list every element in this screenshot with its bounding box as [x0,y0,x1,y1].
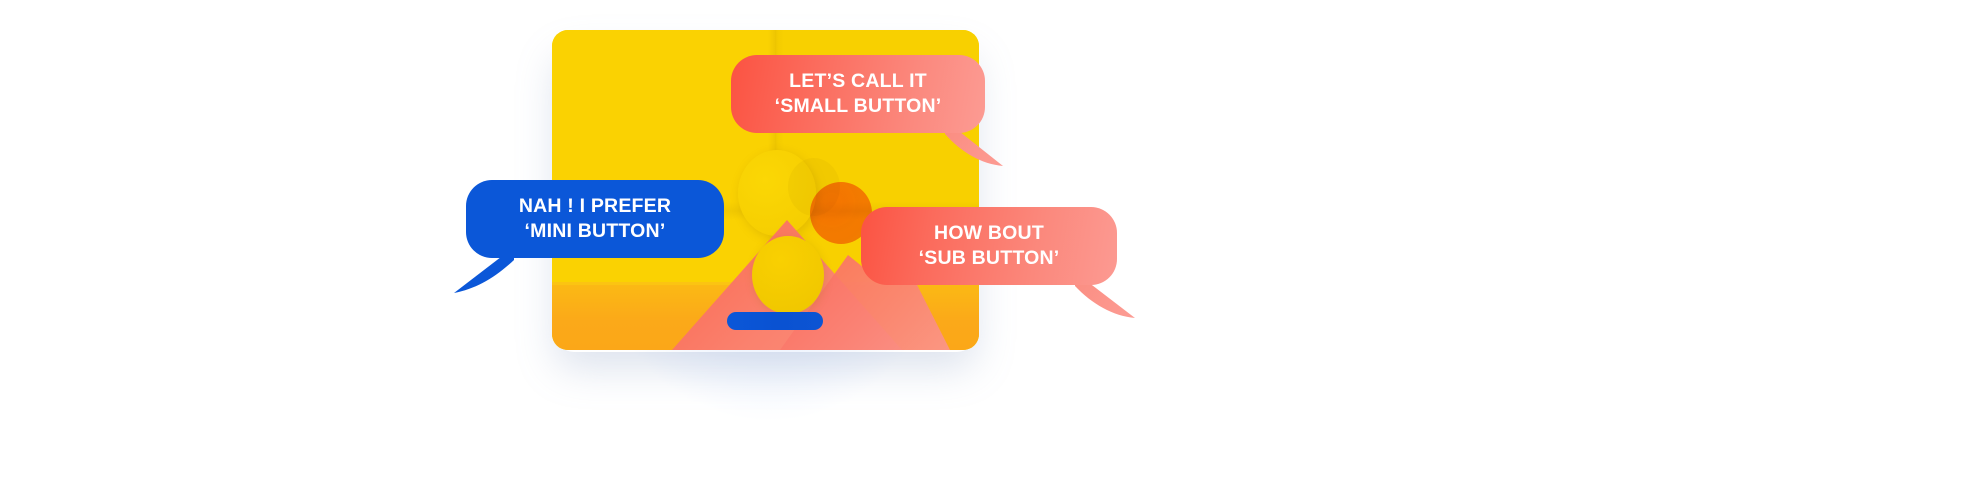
speech-bubble-sub-button-line-1: HOW BOUT [934,221,1044,246]
speech-bubble-sub-button-line-2: ‘SUB BUTTON’ [919,246,1060,271]
speech-bubble-small-button[interactable]: LET’S CALL IT ‘SMALL BUTTON’ [731,55,985,133]
blue-pill-button[interactable] [727,312,823,330]
speech-bubble-mini-button-line-2: ‘MINI BUTTON’ [525,219,666,244]
illustration-scene: LET’S CALL IT ‘SMALL BUTTON’ NAH ! I PRE… [0,0,1975,483]
speech-bubble-sub-button[interactable]: HOW BOUT ‘SUB BUTTON’ [861,207,1117,285]
puzzle-knob-lower [752,236,824,314]
speech-bubble-mini-button-line-1: NAH ! I PREFER [519,194,671,219]
speech-bubble-mini-button[interactable]: NAH ! I PREFER ‘MINI BUTTON’ [466,180,724,258]
speech-bubble-small-button-line-2: ‘SMALL BUTTON’ [775,94,942,119]
speech-bubble-small-button-line-1: LET’S CALL IT [789,69,927,94]
